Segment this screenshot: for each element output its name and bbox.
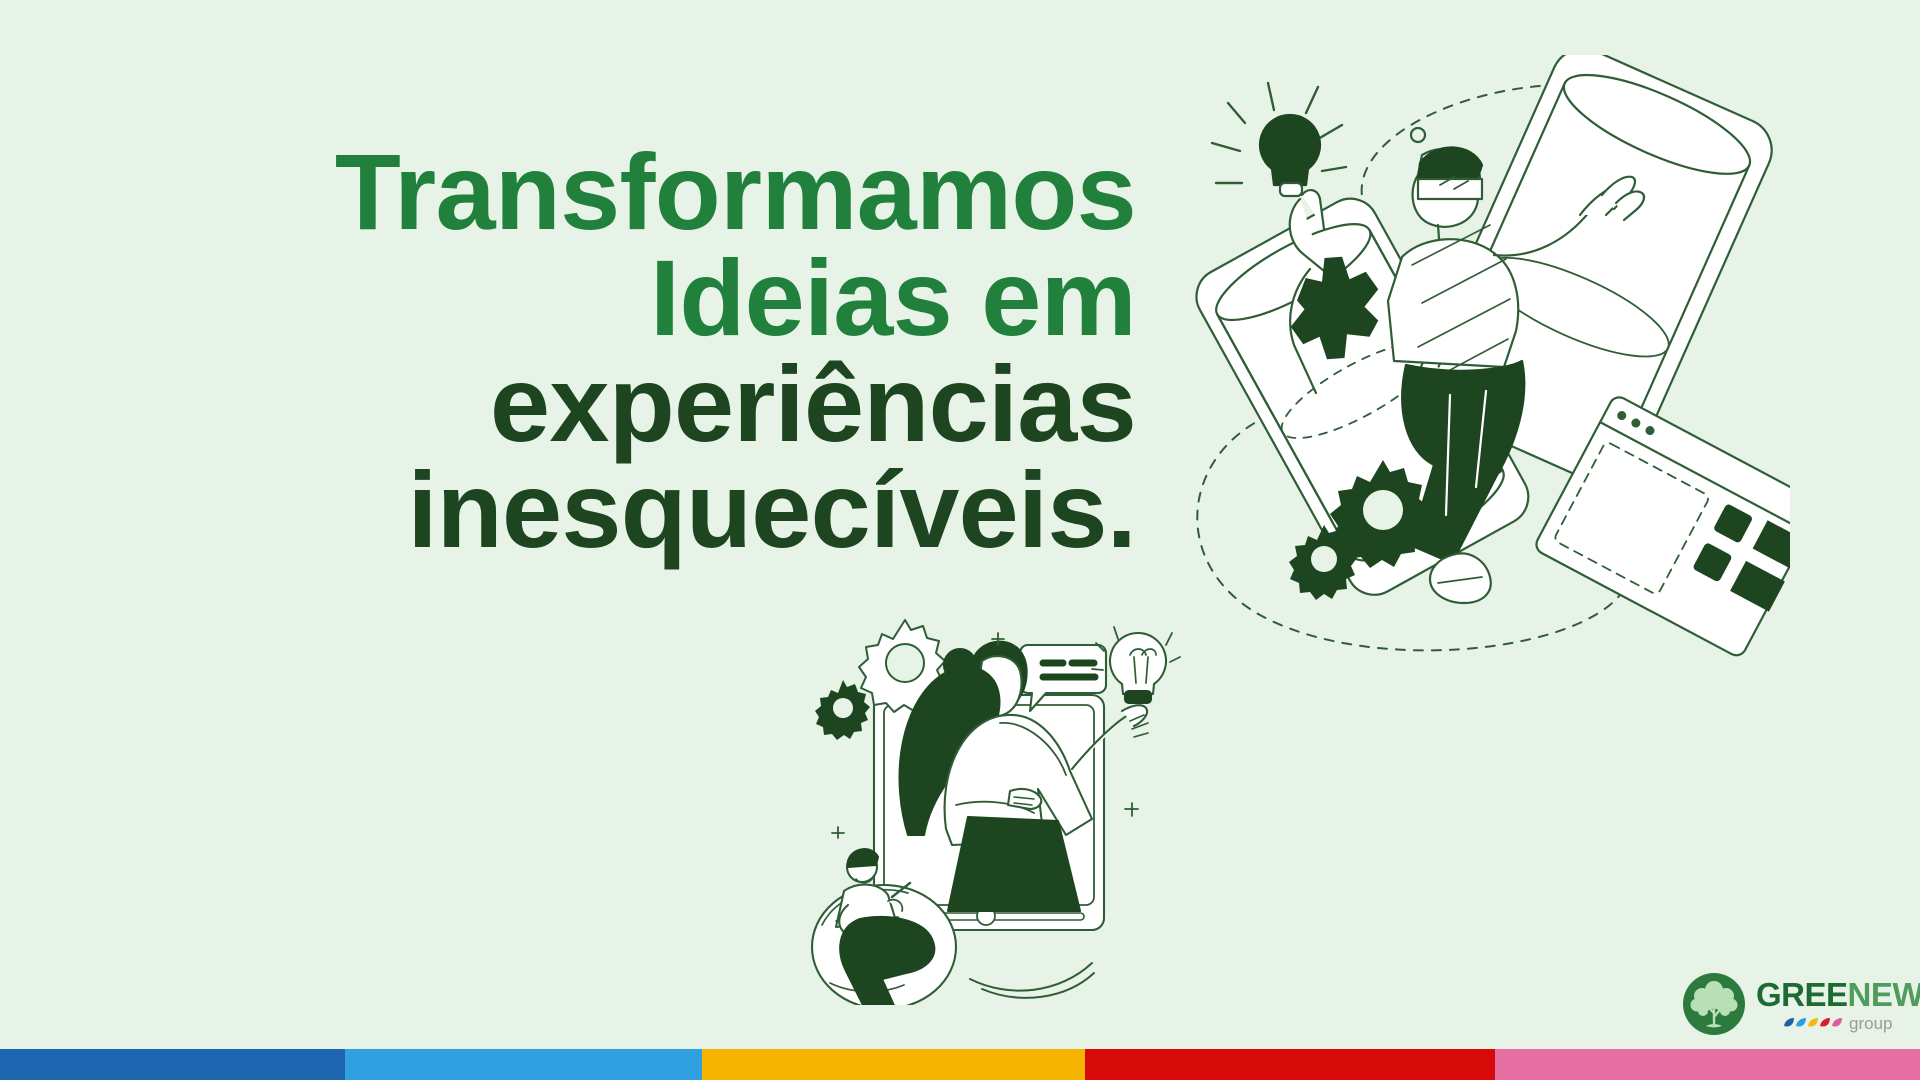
logo-word-gree: GREE bbox=[1756, 976, 1848, 1013]
segment-light-blue bbox=[345, 1049, 702, 1080]
slide-canvas: Transformamos Ideias em experiências ine… bbox=[0, 0, 1920, 1080]
bottom-color-bar bbox=[0, 1049, 1920, 1080]
segment-dark-blue bbox=[0, 1049, 345, 1080]
segment-yellow bbox=[702, 1049, 1085, 1080]
headline: Transformamos Ideias em experiências ine… bbox=[140, 139, 1136, 562]
headline-line-2: Ideias em bbox=[140, 245, 1136, 351]
presenter-illustration bbox=[800, 605, 1225, 1005]
logo-leaf-icons bbox=[1784, 1017, 1846, 1030]
greenew-tree-mark bbox=[1683, 973, 1745, 1035]
headline-line-1: Transformamos bbox=[140, 139, 1136, 245]
logo-subtitle: group bbox=[1849, 1015, 1892, 1032]
logo-subtitle-row: group bbox=[1756, 1015, 1920, 1032]
headline-line-3: experiências bbox=[140, 351, 1136, 457]
logo-word: GREENEW bbox=[1756, 978, 1920, 1011]
vr-person-illustration bbox=[1150, 55, 1790, 670]
logo-word-new: NEW bbox=[1848, 976, 1920, 1013]
segment-pink bbox=[1495, 1049, 1920, 1080]
headline-line-4: inesquecíveis. bbox=[140, 457, 1136, 563]
swoosh-lines bbox=[970, 963, 1094, 998]
logo-wordmark: GREENEW group bbox=[1756, 976, 1920, 1032]
greenew-logo[interactable]: GREENEW group bbox=[1683, 973, 1920, 1035]
lightbulb-icon bbox=[1212, 83, 1346, 196]
segment-red bbox=[1085, 1049, 1495, 1080]
